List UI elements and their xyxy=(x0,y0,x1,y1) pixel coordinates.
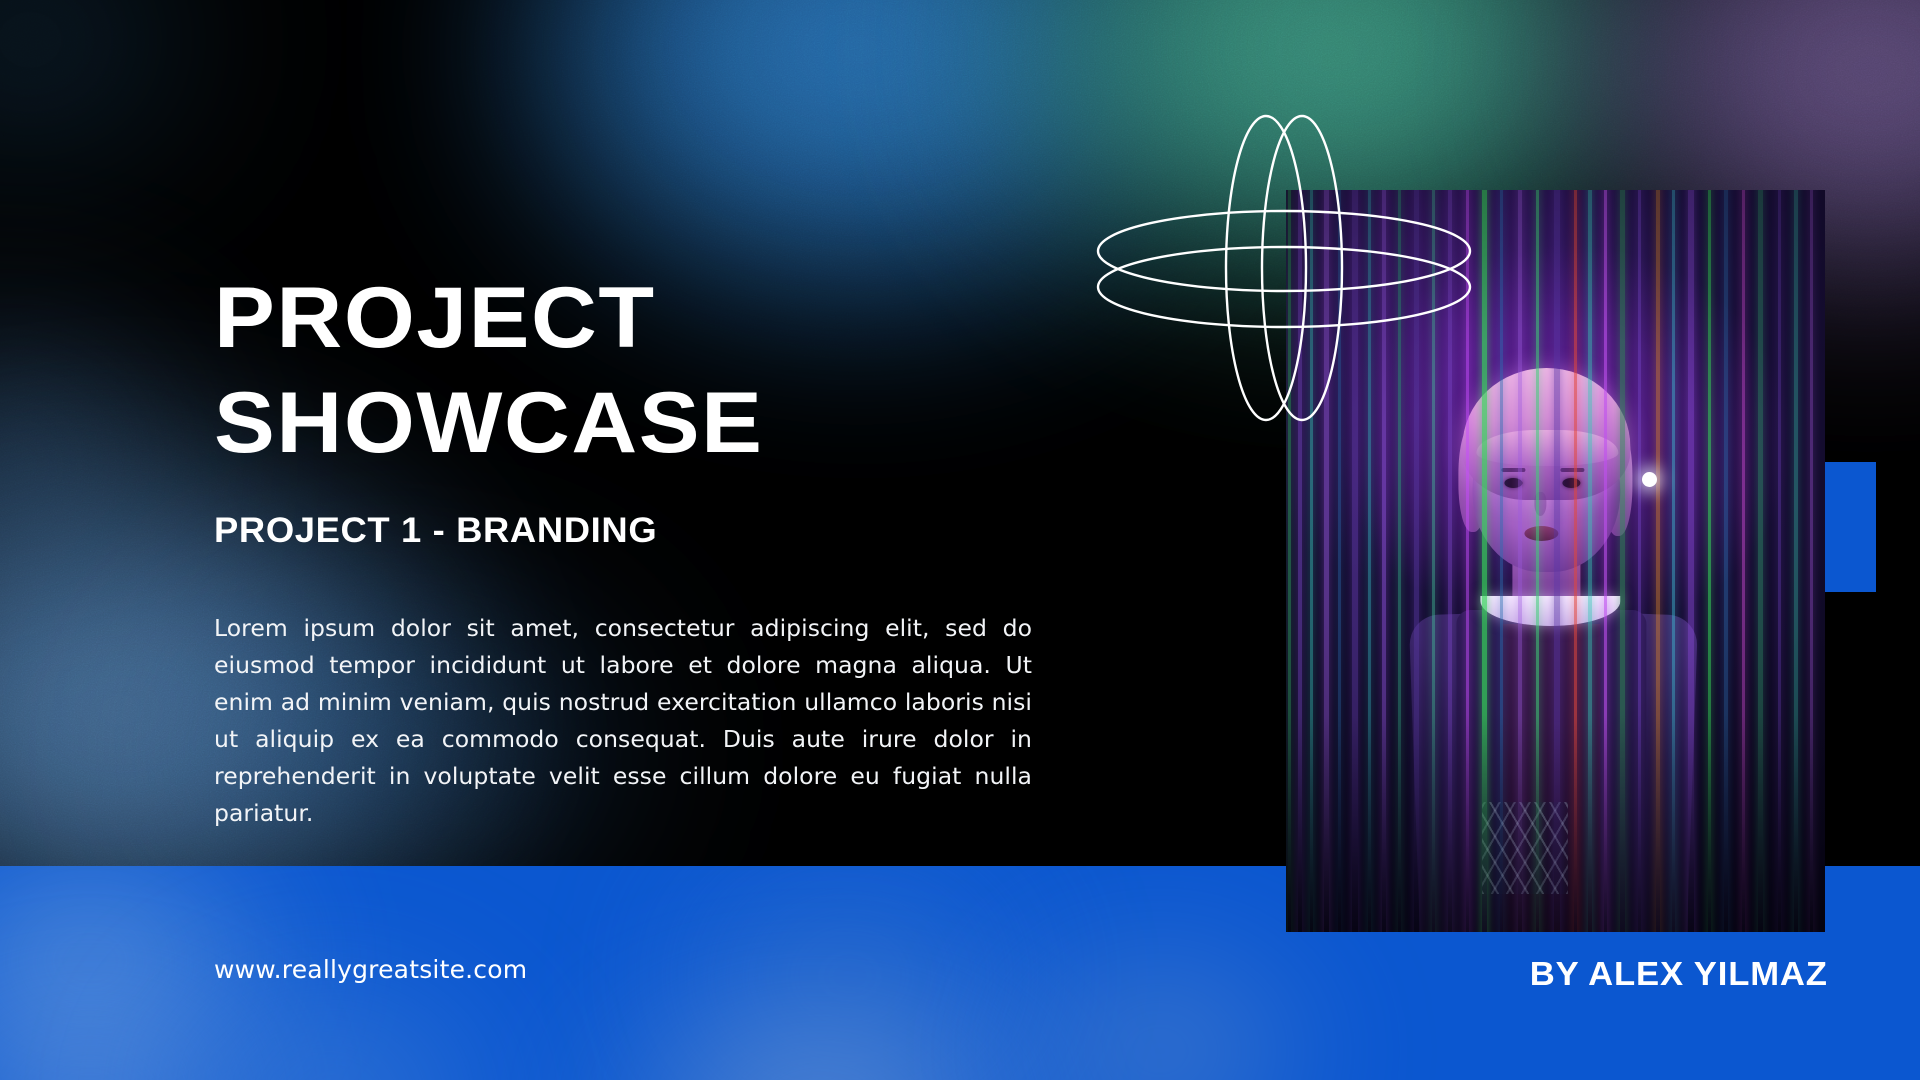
page-title: PROJECT SHOWCASE xyxy=(214,266,1126,476)
project-subheading: PROJECT 1 - BRANDING xyxy=(214,511,657,551)
project-description: Lorem ipsum dolor sit amet, consectetur … xyxy=(214,610,1032,832)
page-title-line-1: PROJECT xyxy=(214,266,1126,371)
page-title-line-2: SHOWCASE xyxy=(214,371,1126,476)
author-credit: BY ALEX YILMAZ xyxy=(1530,955,1828,993)
presentation-slide: PROJECT SHOWCASE PROJECT 1 - BRANDING Lo… xyxy=(0,0,1920,1080)
orbit-rings-icon xyxy=(1084,68,1484,468)
website-url[interactable]: www.reallygreatsite.com xyxy=(214,955,527,984)
